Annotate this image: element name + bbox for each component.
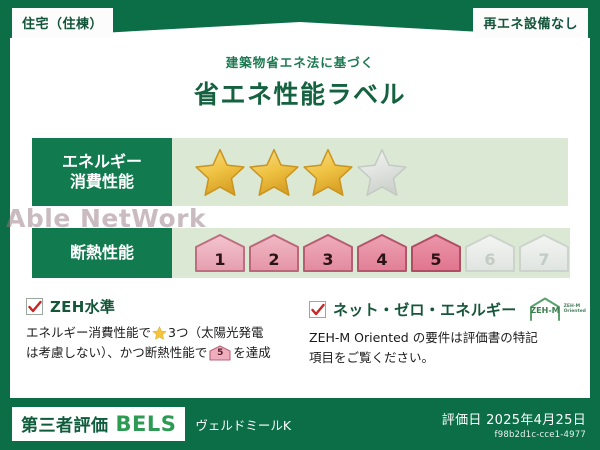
insulation-performance-row: 断熱性能 1234567 [32,228,568,278]
bels-label-text: 第三者評価 [21,411,109,436]
criterion-zeh-standard: ZEH水準 エネルギー消費性能で3つ（太陽光発電 は考慮しない）、かつ断熱性能で… [26,296,291,369]
criterion-net-zero-energy: ネット・ゼロ・エネルギー ZEH-M ZEH-M Oriented ZEH-M … [309,296,574,369]
inline-house-number: 5 [209,346,231,361]
criteria-section: ZEH水準 エネルギー消費性能で3つ（太陽光発電 は考慮しない）、かつ断熱性能で… [26,296,574,369]
insulation-level-badge: 5 [410,233,462,273]
house-badge-active-icon [356,233,408,273]
insulation-level-badge: 1 [194,233,246,273]
zeh-m-sub-line1: ZEH-M [564,304,580,309]
house-badge-inactive-icon [464,233,516,273]
building-type-tag: 住宅（住棟） [12,8,113,38]
footer-meta: 評価日 2025年4月25日 f98b2d1c-cce1-4977 [442,409,586,440]
insulation-level-badge: 3 [302,233,354,273]
net-zero-title: ネット・ゼロ・エネルギー [333,299,517,320]
zeh-m-logo-subtext: ZEH-M Oriented [564,304,586,315]
energy-label-line1: エネルギー [62,152,142,172]
title-block: 建築物省エネ法に基づく 省エネ性能ラベル [0,52,600,111]
check-icon [28,300,42,314]
zeh-m-sub-line2: Oriented [564,309,586,314]
house-badge-active-icon [302,233,354,273]
renewable-equipment-tag: 再エネ設備なし [473,8,588,38]
zeh-desc-suffix: を達成 [233,345,271,360]
nzeb-desc-line2: 項目をご覧ください。 [309,350,434,365]
check-icon [311,303,325,317]
energy-performance-row: エネルギー 消費性能 [32,138,568,206]
zeh-title: ZEH水準 [50,296,115,317]
net-zero-checkbox[interactable] [309,301,326,318]
insulation-label-text: 断熱性能 [70,243,134,263]
net-zero-description: ZEH-M Oriented の要件は評価書の特記 項目をご覧ください。 [309,328,574,369]
house-badge-active-icon [410,233,462,273]
star-rating [194,147,408,197]
evaluation-id: f98b2d1c-cce1-4977 [442,430,586,440]
insulation-level-badge: 7 [518,233,570,273]
bels-badge: 第三者評価 BELS [12,407,185,441]
zeh-checkbox[interactable] [26,298,43,315]
star-empty-icon [356,147,408,197]
energy-performance-label-box: エネルギー 消費性能 [32,138,172,206]
zeh-desc-mid: 3つ（太陽光発電 [168,325,263,340]
house-badge-active-icon [248,233,300,273]
criterion-zeh-header: ZEH水準 [26,296,291,317]
insulation-level-badge: 6 [464,233,516,273]
building-name: ヴェルドミールK [195,415,291,434]
page-title: 省エネ性能ラベル [0,75,600,111]
insulation-level-badge: 2 [248,233,300,273]
star-filled-icon [194,147,246,197]
footer-bar: 第三者評価 BELS ヴェルドミールK 評価日 2025年4月25日 f98b2… [0,398,600,450]
star-filled-icon [248,147,300,197]
house-badge-active-icon [194,233,246,273]
svg-text:ZEH-M: ZEH-M [530,306,559,315]
inline-star-icon [152,326,167,340]
criterion-nzeb-header: ネット・ゼロ・エネルギー ZEH-M ZEH-M Oriented [309,296,574,322]
zeh-description: エネルギー消費性能で3つ（太陽光発電 は考慮しない）、かつ断熱性能で5を達成 [26,323,291,364]
energy-performance-value [172,138,568,206]
energy-performance-label: 住宅（住棟） 再エネ設備なし 建築物省エネ法に基づく 省エネ性能ラベル エネルギ… [0,0,600,450]
zeh-m-house-icon: ZEH-M [528,296,562,322]
zeh-desc-line2: は考慮しない）、かつ断熱性能で [26,345,207,360]
insulation-level-badge: 4 [356,233,408,273]
zeh-desc-prefix: エネルギー消費性能で [26,325,151,340]
energy-label-line2: 消費性能 [70,172,134,192]
insulation-level-scale: 1234567 [194,233,570,273]
star-filled-icon [302,147,354,197]
title-subtitle: 建築物省エネ法に基づく [0,52,600,71]
zeh-m-logo: ZEH-M ZEH-M Oriented [528,296,586,322]
evaluation-date: 評価日 2025年4月25日 [442,409,586,428]
insulation-performance-label-box: 断熱性能 [32,228,172,278]
insulation-performance-value: 1234567 [172,228,570,278]
inline-house-badge: 5 [209,345,231,361]
house-badge-inactive-icon [518,233,570,273]
nzeb-desc-line1: ZEH-M Oriented の要件は評価書の特記 [309,330,538,345]
bels-mark-text: BELS [116,412,177,436]
